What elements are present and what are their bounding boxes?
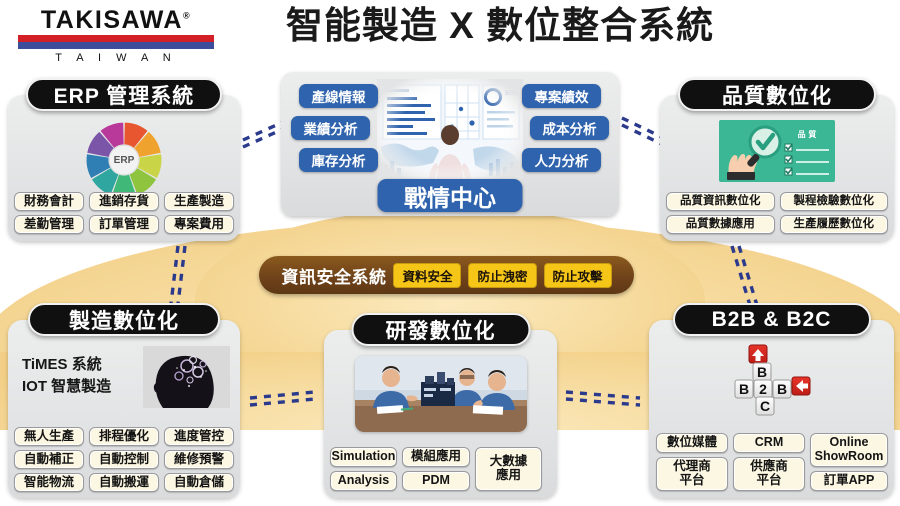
b2b-tag-col: CRM 供應商 平台 — [733, 433, 805, 491]
connector-rd-b2b-2 — [566, 399, 640, 405]
dashboard-illustration: 50% — [377, 79, 523, 180]
brand-name: TAKISAWA® — [18, 8, 214, 33]
b2b-dice-illustration: B B 2 B C — [713, 344, 831, 416]
war-room-tag-right[interactable]: 成本分析 — [530, 116, 609, 140]
rd-tag-col: Simulation Analysis — [330, 447, 397, 491]
manufacturing-tag[interactable]: 自動搬運 — [89, 473, 159, 492]
erp-tag[interactable]: 財務會計 — [14, 192, 84, 211]
b2b-tag[interactable]: 數位媒體 — [656, 433, 728, 453]
dice-letter-top: B — [753, 363, 771, 381]
dice-row-letter: B — [738, 381, 748, 397]
panel-manufacturing[interactable]: 製造數位化 TiMES 系統 IOT 智慧製造 — [8, 320, 240, 498]
panel-quality[interactable]: 品質數位化 品 質 — [660, 95, 894, 241]
rd-tag[interactable]: PDM — [402, 471, 470, 491]
connector-mfg-rd-2 — [250, 399, 315, 405]
erp-tag[interactable]: 差勤管理 — [14, 215, 84, 234]
dice-arrow-up — [749, 345, 767, 363]
erp-tag-list: 財務會計 進銷存貨 生產製造 差勤管理 訂單管理 專案費用 — [14, 192, 234, 234]
page-title: 智能製造 X 數位整合系統 — [240, 6, 760, 47]
erp-tag[interactable]: 生產製造 — [164, 192, 234, 211]
panel-b2b-b2c[interactable]: B2B & B2C B — [649, 320, 894, 498]
manufacturing-subtitle-line1: TiMES 系統 — [22, 354, 111, 376]
manufacturing-tag[interactable]: 自動控制 — [89, 450, 159, 469]
quality-tag-row: 品質數據應用 生產履歷數位化 — [666, 215, 888, 234]
manufacturing-tag[interactable]: 自動倉儲 — [164, 473, 234, 492]
war-room-tag-right[interactable]: 專案績效 — [522, 84, 601, 108]
quality-tag[interactable]: 生產履歷數位化 — [780, 215, 889, 234]
b2b-tag-list: 數位媒體 代理商 平台 CRM 供應商 平台 — [656, 433, 887, 491]
panel-quality-body: 品 質 品質資訊數位化 製程檢驗數位化 品質數據應用 生產履歷數位化 — [660, 95, 894, 241]
brand-bars — [18, 35, 214, 49]
rd-tag-bigdata[interactable]: 大數據 應用 — [475, 447, 542, 491]
b2b-tag[interactable]: 代理商 平台 — [656, 457, 728, 491]
panel-rd-body: Simulation Analysis 模組應用 PDM 大數據 應用 — [324, 330, 557, 498]
erp-tag-row: 財務會計 進銷存貨 生產製造 — [14, 192, 234, 211]
security-tag[interactable]: 防止攻擊 — [544, 263, 612, 288]
quality-tag[interactable]: 品質數據應用 — [666, 215, 775, 234]
war-room-tag-left[interactable]: 庫存分析 — [299, 148, 378, 172]
rd-tag[interactable]: Analysis — [330, 471, 397, 491]
connector-rd-b2b — [566, 392, 640, 398]
panel-manufacturing-body: TiMES 系統 IOT 智慧製造 無人生產 排程優化 — [8, 320, 240, 498]
b2b-tag-showroom[interactable]: Online ShowRoom — [810, 433, 888, 467]
b2b-tag-col: 數位媒體 代理商 平台 — [656, 433, 728, 491]
manufacturing-tag[interactable]: 排程優化 — [89, 427, 159, 446]
quality-tag[interactable]: 製程檢驗數位化 — [780, 192, 889, 211]
rd-tag-col: 大數據 應用 — [475, 447, 542, 491]
b2b-tag-line2: ShowRoom — [815, 450, 884, 464]
manufacturing-tag-row: 無人生產 排程優化 進度管控 — [14, 427, 234, 446]
panel-erp[interactable]: ERP 管理系統 ERP 財務會計 進銷存貨 生產製造 差勤管理 訂單管理 專案… — [8, 95, 240, 241]
dice-arrow-right — [792, 377, 810, 395]
panel-war-room[interactable]: 50% 產線情報 業績分析 庫存分析 專案績效 成本分析 — [281, 72, 619, 216]
quality-tag-list: 品質資訊數位化 製程檢驗數位化 品質數據應用 生產履歷數位化 — [666, 192, 888, 234]
manufacturing-tag-row: 智能物流 自動搬運 自動倉儲 — [14, 473, 234, 492]
b2b-tag-orderapp[interactable]: 訂單APP — [810, 471, 888, 491]
dice-top-letter: B — [756, 364, 766, 380]
registered-mark: ® — [183, 11, 191, 21]
dice-letter-bottom: C — [756, 397, 774, 415]
b2b-tag-col: Online ShowRoom 訂單APP — [810, 433, 888, 491]
b2b-tag-line1: 代理商 — [673, 460, 711, 474]
erp-tag-row: 差勤管理 訂單管理 專案費用 — [14, 215, 234, 234]
b2b-tag-line2: 平台 — [750, 474, 788, 488]
erp-tag[interactable]: 專案費用 — [164, 215, 234, 234]
dice-row-letter: 2 — [759, 381, 767, 397]
war-room-tag-left[interactable]: 業績分析 — [291, 116, 370, 140]
team-meeting-photo — [355, 356, 527, 432]
manufacturing-subtitle: TiMES 系統 IOT 智慧製造 — [22, 354, 111, 398]
brand-region: T A I W A N — [18, 52, 214, 64]
manufacturing-tag[interactable]: 自動補正 — [14, 450, 84, 469]
manufacturing-tag[interactable]: 維修預警 — [164, 450, 234, 469]
b2b-tag-line2: 平台 — [673, 474, 711, 488]
manufacturing-tag-row: 自動補正 自動控制 維修預警 — [14, 450, 234, 469]
war-room-label: 戰情中心 — [378, 179, 523, 212]
quality-image-label: 品 質 — [798, 129, 817, 139]
rd-tag-bigdata-line2: 應用 — [490, 469, 528, 483]
panel-b2b-body: B B 2 B C 數位媒體 — [649, 320, 894, 498]
rd-tag[interactable]: Simulation — [330, 447, 397, 467]
connector-mfg-rd — [250, 392, 315, 398]
b2b-tag[interactable]: CRM — [733, 433, 805, 453]
rd-tag-bigdata-line1: 大數據 — [490, 455, 528, 469]
dice-row-letter: B — [776, 381, 786, 397]
security-tag[interactable]: 防止洩密 — [468, 263, 536, 288]
war-room-tag-right[interactable]: 人力分析 — [522, 148, 601, 172]
quality-tag-row: 品質資訊數位化 製程檢驗數位化 — [666, 192, 888, 211]
b2b-tag-line1: Online — [815, 436, 884, 450]
dice-row: B 2 B — [735, 380, 791, 398]
b2b-tag[interactable]: 供應商 平台 — [733, 457, 805, 491]
security-title: 資訊安全系統 — [281, 263, 386, 288]
rd-tag[interactable]: 模組應用 — [402, 447, 470, 467]
brand-bar-blue — [18, 42, 214, 49]
b2b-tag-line1: 供應商 — [750, 460, 788, 474]
brain-head-illustration — [143, 346, 230, 408]
manufacturing-tag-list: 無人生產 排程優化 進度管控 自動補正 自動控制 維修預警 智能物流 自動搬運 … — [14, 427, 234, 492]
manufacturing-tag[interactable]: 無人生產 — [14, 427, 84, 446]
dice-bottom-letter: C — [759, 398, 769, 414]
panel-rd[interactable]: 研發數位化 — [324, 330, 557, 498]
quality-tag[interactable]: 品質資訊數位化 — [666, 192, 775, 211]
rd-tag-list: Simulation Analysis 模組應用 PDM 大數據 應用 — [330, 447, 551, 491]
erp-tag[interactable]: 進銷存貨 — [89, 192, 159, 211]
war-room-tag-left[interactable]: 產線情報 — [299, 84, 378, 108]
erp-wheel-center-label: ERP — [114, 155, 135, 166]
brand-logo: TAKISAWA® T A I W A N — [18, 8, 214, 64]
rd-tag-col: 模組應用 PDM — [402, 447, 470, 491]
quality-check-illustration: 品 質 — [719, 120, 835, 182]
panel-war-room-body: 50% 產線情報 業績分析 庫存分析 專案績效 成本分析 — [281, 72, 619, 216]
erp-wheel-chart: ERP — [85, 121, 163, 199]
erp-tag[interactable]: 訂單管理 — [89, 215, 159, 234]
brand-bar-red — [18, 35, 214, 42]
manufacturing-tag[interactable]: 智能物流 — [14, 473, 84, 492]
panel-erp-body: ERP 財務會計 進銷存貨 生產製造 差勤管理 訂單管理 專案費用 — [8, 95, 240, 241]
security-tag[interactable]: 資料安全 — [393, 263, 461, 288]
security-bar[interactable]: 資訊安全系統 資料安全 防止洩密 防止攻擊 — [259, 256, 634, 294]
manufacturing-tag[interactable]: 進度管控 — [164, 427, 234, 446]
manufacturing-subtitle-line2: IOT 智慧製造 — [22, 376, 111, 398]
